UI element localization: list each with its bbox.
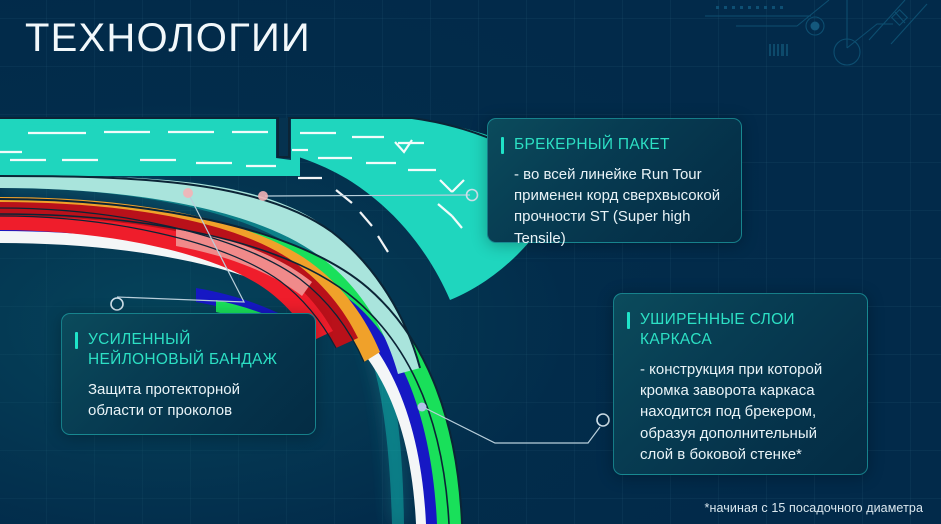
page-title: ТЕХНОЛОГИИ (25, 16, 311, 60)
accent-bar-icon (501, 137, 504, 154)
card-heading: УСИЛЕННЫЙ НЕЙЛОНОВЫЙ БАНДАЖ (88, 330, 297, 370)
accent-bar-icon (75, 332, 78, 349)
callout-card-breaker-package[interactable]: БРЕКЕРНЫЙ ПАКЕТ - во всей линейке Run To… (487, 118, 742, 243)
card-body: - конструкция при которой кромка заворот… (640, 359, 849, 465)
leader-endpoint-carcass (597, 414, 609, 426)
leader-endpoint-nylon (111, 298, 123, 310)
card-heading: УШИРЕННЫЕ СЛОИ КАРКАСА (640, 310, 849, 350)
card-body: Защита протекторной области от проколов (88, 379, 297, 422)
card-body: - во всей линейке Run Tour применен корд… (514, 164, 723, 249)
slide-root: ТЕХНОЛОГИИ БРЕКЕРНЫЙ ПАКЕТ - во всей лин… (0, 0, 941, 524)
callout-card-nylon-bandage[interactable]: УСИЛЕННЫЙ НЕЙЛОНОВЫЙ БАНДАЖ Защита проте… (61, 313, 316, 435)
card-heading: БРЕКЕРНЫЙ ПАКЕТ (514, 135, 723, 155)
footnote: *начиная с 15 посадочного диаметра (705, 501, 924, 515)
callout-card-carcass-layers[interactable]: УШИРЕННЫЕ СЛОИ КАРКАСА - конструкция при… (613, 293, 868, 475)
accent-bar-icon (627, 312, 630, 329)
